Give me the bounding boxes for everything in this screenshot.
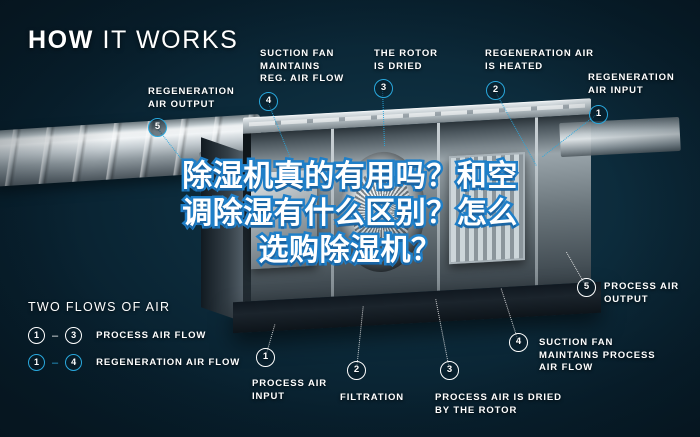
legend-row-process: 1–3PROCESS AIR FLOW: [28, 327, 206, 344]
callout-label-process-air-input: PROCESS AIR INPUT: [252, 378, 327, 403]
headline-overlay: 除湿机真的有用吗？和空 调除湿有什么区别？怎么 选购除湿机？: [0, 158, 700, 269]
callout-label-regeneration-air-input: REGENERATION AIR INPUT: [588, 72, 675, 97]
headline-line-1: 除湿机真的有用吗？和空: [0, 158, 700, 195]
callout-marker-regeneration-air-input[interactable]: 1: [589, 105, 608, 124]
callout-marker-suction-fan-process[interactable]: 4: [509, 333, 528, 352]
callout-marker-regeneration-air-output[interactable]: 5: [148, 118, 167, 137]
legend-row-regeneration: 1–4REGENERATION AIR FLOW: [28, 354, 240, 371]
infographic-canvas: HOW IT WORKS 5REGENERATION AIR OUTPUT4SU…: [0, 0, 700, 437]
callout-label-process-air-output: PROCESS AIR OUTPUT: [604, 281, 679, 306]
legend-label: PROCESS AIR FLOW: [96, 330, 206, 341]
callout-label-suction-fan-process: SUCTION FAN MAINTAINS PROCESS AIR FLOW: [539, 337, 655, 375]
page-title: HOW IT WORKS: [28, 26, 238, 55]
callout-label-regeneration-air-output: REGENERATION AIR OUTPUT: [148, 86, 235, 111]
callout-marker-filtration[interactable]: 2: [347, 361, 366, 380]
page-title-bold: HOW: [28, 26, 94, 54]
callout-label-filtration: FILTRATION: [340, 392, 404, 405]
callout-marker-process-air-input[interactable]: 1: [256, 348, 275, 367]
callout-label-suction-fan-regeneration: SUCTION FAN MAINTAINS REG. AIR FLOW: [260, 48, 344, 86]
legend-marker-from: 1: [28, 354, 45, 371]
legend-marker-to: 4: [65, 354, 82, 371]
callout-marker-regeneration-air-heated[interactable]: 2: [486, 81, 505, 100]
callout-label-rotor-is-dried: THE ROTOR IS DRIED: [374, 48, 438, 73]
page-title-rest: IT WORKS: [102, 26, 238, 54]
legend-marker-to: 3: [65, 327, 82, 344]
callout-marker-rotor-is-dried[interactable]: 3: [374, 79, 393, 98]
legend-dash: –: [52, 330, 58, 342]
legend-label: REGENERATION AIR FLOW: [96, 357, 240, 368]
callout-marker-process-air-dried-by-rotor[interactable]: 3: [440, 361, 459, 380]
legend-marker-from: 1: [28, 327, 45, 344]
legend-title: TWO FLOWS OF AIR: [28, 300, 170, 314]
legend-dash: –: [52, 357, 58, 369]
callout-marker-suction-fan-regeneration[interactable]: 4: [259, 92, 278, 111]
callout-label-regeneration-air-heated: REGENERATION AIR IS HEATED: [485, 48, 594, 73]
callout-label-process-air-dried-by-rotor: PROCESS AIR IS DRIED BY THE ROTOR: [435, 392, 562, 417]
callout-marker-process-air-output[interactable]: 5: [577, 278, 596, 297]
headline-line-2: 调除湿有什么区别？怎么: [0, 195, 700, 232]
headline-line-3: 选购除湿机？: [0, 232, 700, 269]
